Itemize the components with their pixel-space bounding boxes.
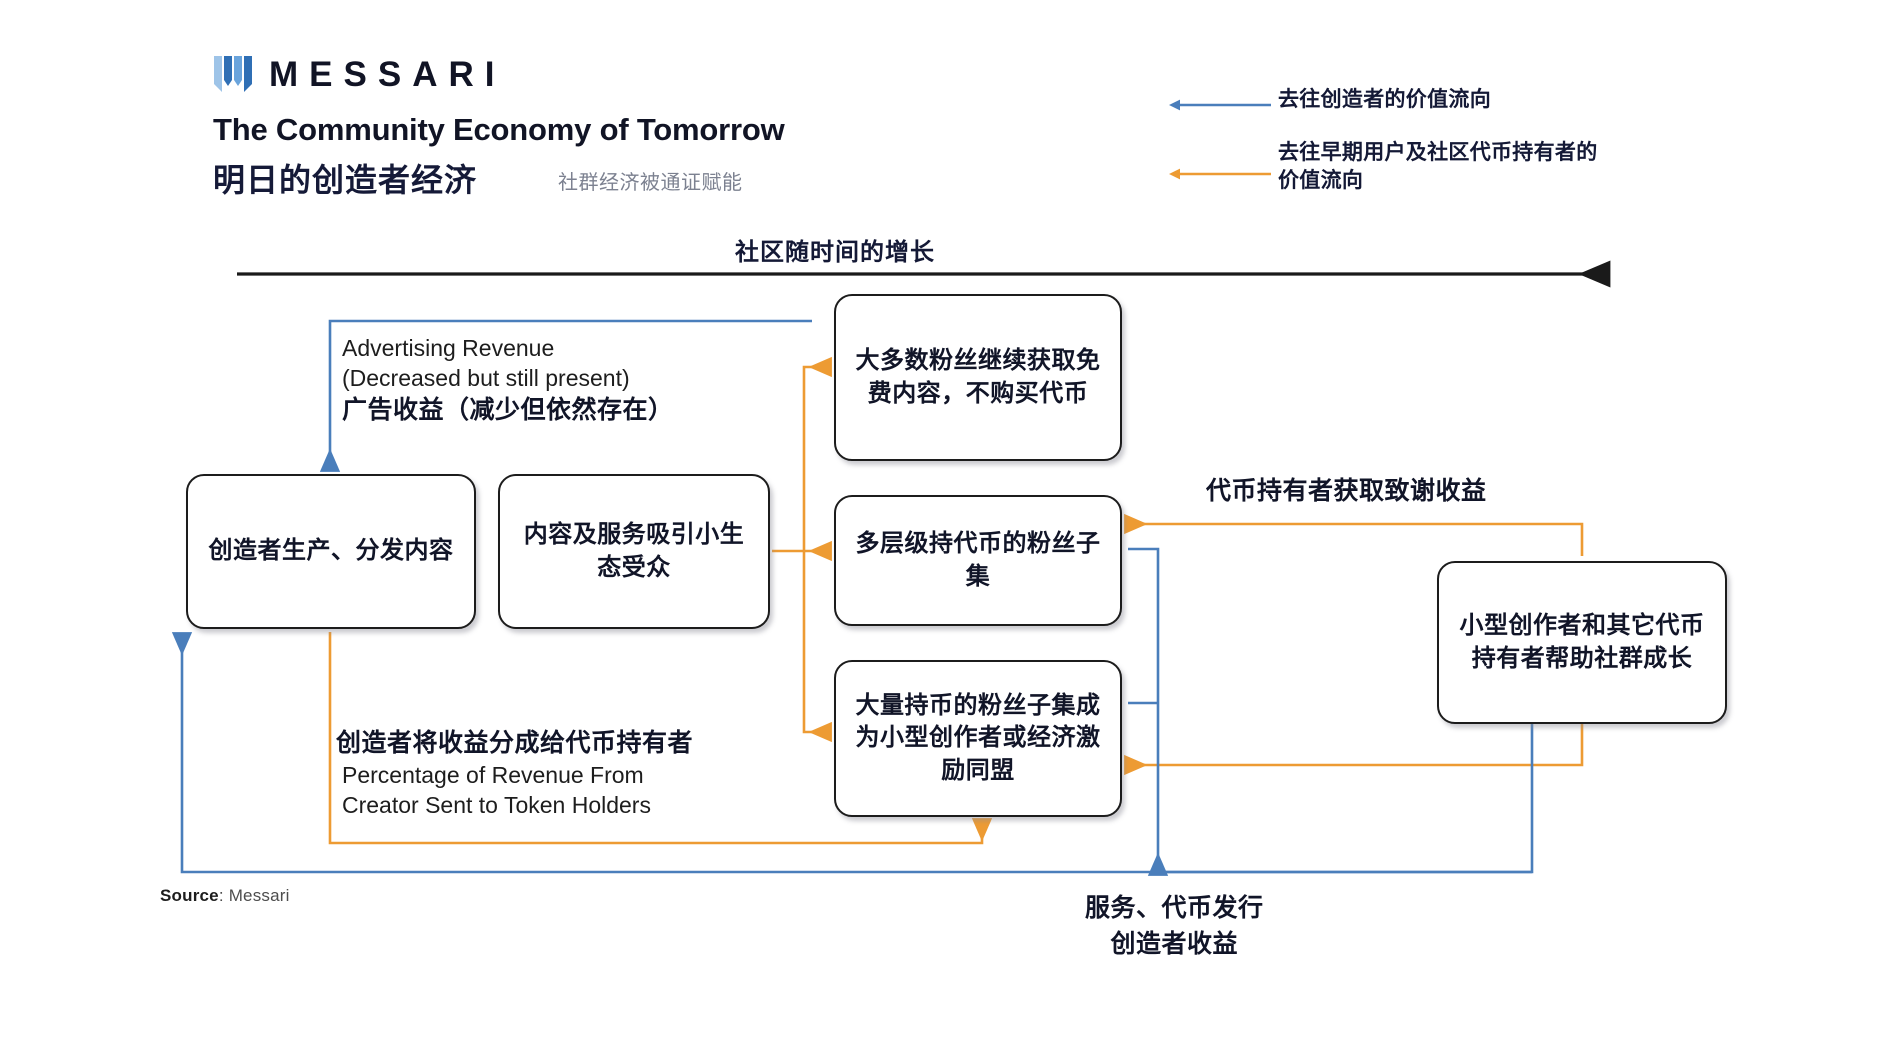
label-ad-en-line1: Advertising Revenue [342, 333, 674, 363]
flow-box-large-holders-label: 大量持币的粉丝子集成为小型创作者或经济激励同盟 [836, 690, 1120, 786]
flow-box-large-holders[interactable]: 大量持币的粉丝子集成为小型创作者或经济激励同盟 [834, 660, 1122, 817]
label-services-line2: 创造者收益 [1085, 926, 1264, 962]
source-note: Source: Messari [160, 886, 290, 906]
flow-box-free-fans[interactable]: 大多数粉丝继续获取免费内容，不购买代币 [834, 294, 1122, 461]
page-title-zh: 明日的创造者经济 [213, 155, 477, 201]
flow-box-small-creators[interactable]: 小型创作者和其它代币持有者帮助社群成长 [1437, 561, 1727, 724]
label-rev-zh: 创造者将收益分成给代币持有者 [336, 727, 693, 760]
label-services-token-issuance: 服务、代币发行 创造者收益 [1085, 890, 1264, 963]
messari-m-logo-icon [213, 54, 255, 94]
label-advertising-revenue: Advertising Revenue (Decreased but still… [342, 333, 674, 427]
legend-item-holder-flow: 去往早期用户及社区代币持有者的价值流向 [1168, 139, 1768, 194]
flow-box-audience[interactable]: 内容及服务吸引小生态受众 [498, 474, 770, 629]
flow-box-tiered-fans-label: 多层级持代币的粉丝子集 [836, 528, 1120, 592]
arrow-tiered-fans-to-services [1128, 549, 1158, 872]
source-label: Source [160, 886, 219, 905]
label-token-holder-thanks: 代币持有者获取致谢收益 [1206, 471, 1487, 507]
left-arrow-orange-icon [1168, 139, 1278, 186]
flow-box-tiered-fans[interactable]: 多层级持代币的粉丝子集 [834, 495, 1122, 626]
flow-box-creator-label: 创造者生产、分发内容 [195, 535, 468, 567]
legend-label-creator-flow: 去往创造者的价值流向 [1278, 86, 1491, 114]
arrow-right-loop-to-large-holders [1128, 724, 1582, 765]
label-rev-en-line2: Creator Sent to Token Holders [336, 790, 693, 820]
flow-box-small-creators-label: 小型创作者和其它代币持有者帮助社群成长 [1439, 610, 1725, 674]
arrow-audience-to-fan-segments [772, 367, 828, 732]
flow-box-audience-label: 内容及服务吸引小生态受众 [500, 519, 768, 583]
legend-item-creator-flow: 去往创造者的价值流向 [1168, 86, 1768, 117]
left-arrow-blue-icon [1168, 86, 1278, 117]
page-title-en: The Community Economy of Tomorrow [213, 112, 785, 148]
arrow-small-creators-to-tiered-fans [1128, 524, 1582, 556]
source-value: : Messari [219, 886, 290, 905]
page-subtitle-zh: 社群经济被通证赋能 [558, 166, 743, 195]
flow-box-creator[interactable]: 创造者生产、分发内容 [186, 474, 476, 629]
label-services-line1: 服务、代币发行 [1085, 890, 1264, 926]
brand-wordmark: MESSARI [269, 57, 505, 92]
brand-logo: MESSARI [213, 54, 505, 94]
timeline-label: 社区随时间的增长 [0, 232, 1880, 267]
label-ad-zh: 广告收益（减少但依然存在） [342, 394, 674, 427]
legend-label-holder-flow: 去往早期用户及社区代币持有者的价值流向 [1278, 139, 1608, 194]
label-revenue-share: 创造者将收益分成给代币持有者 Percentage of Revenue Fro… [336, 727, 693, 821]
legend: 去往创造者的价值流向 去往早期用户及社区代币持有者的价值流向 [1168, 86, 1768, 194]
label-rev-en-line1: Percentage of Revenue From [336, 760, 693, 790]
label-ad-en-line2: (Decreased but still present) [342, 363, 674, 393]
flow-box-free-fans-label: 大多数粉丝继续获取免费内容，不购买代币 [836, 345, 1120, 409]
